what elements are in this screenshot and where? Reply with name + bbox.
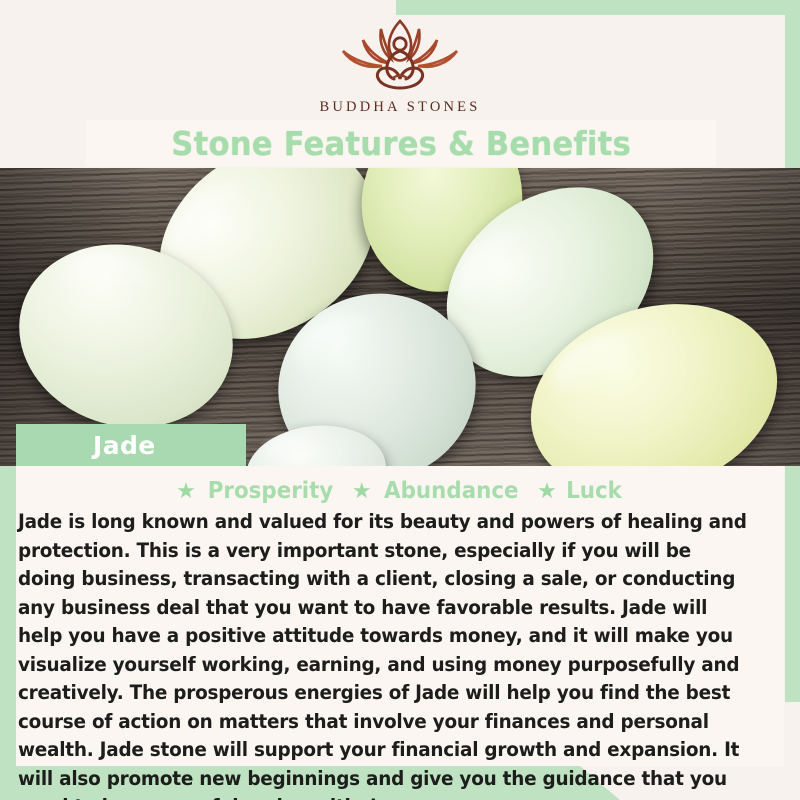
benefit-item: ★ Prosperity [176,478,338,504]
star-icon: ★ [176,480,196,502]
brand-logo: BUDDHA STONES [0,16,800,116]
stone-benefits-poster: BUDDHA STONES Stone Features & Benefits … [0,0,800,800]
benefits-list: ★ Prosperity ★ Abundance ★ Luck [16,478,784,504]
page-title: Stone Features & Benefits [171,124,631,163]
benefit-label: Abundance [384,478,518,504]
description-text: Jade is long known and valued for its be… [18,508,753,800]
benefit-label: Luck [566,478,622,504]
star-icon: ★ [352,480,372,502]
brand-name: BUDDHA STONES [0,99,800,116]
lotus-meditation-icon [0,16,800,95]
star-icon: ★ [537,480,557,502]
decorative-band-top-right [396,0,800,15]
stone-name-badge: Jade [16,424,246,466]
benefit-item: ★ Abundance [352,478,523,504]
content-panel: ★ Prosperity ★ Abundance ★ Luck Jade is … [16,466,784,766]
benefit-label: Prosperity [208,478,334,504]
benefit-item: ★ Luck [537,478,624,504]
title-band: Stone Features & Benefits [86,120,716,166]
stone-photo [0,168,800,466]
stone-name-label: Jade [16,431,156,460]
